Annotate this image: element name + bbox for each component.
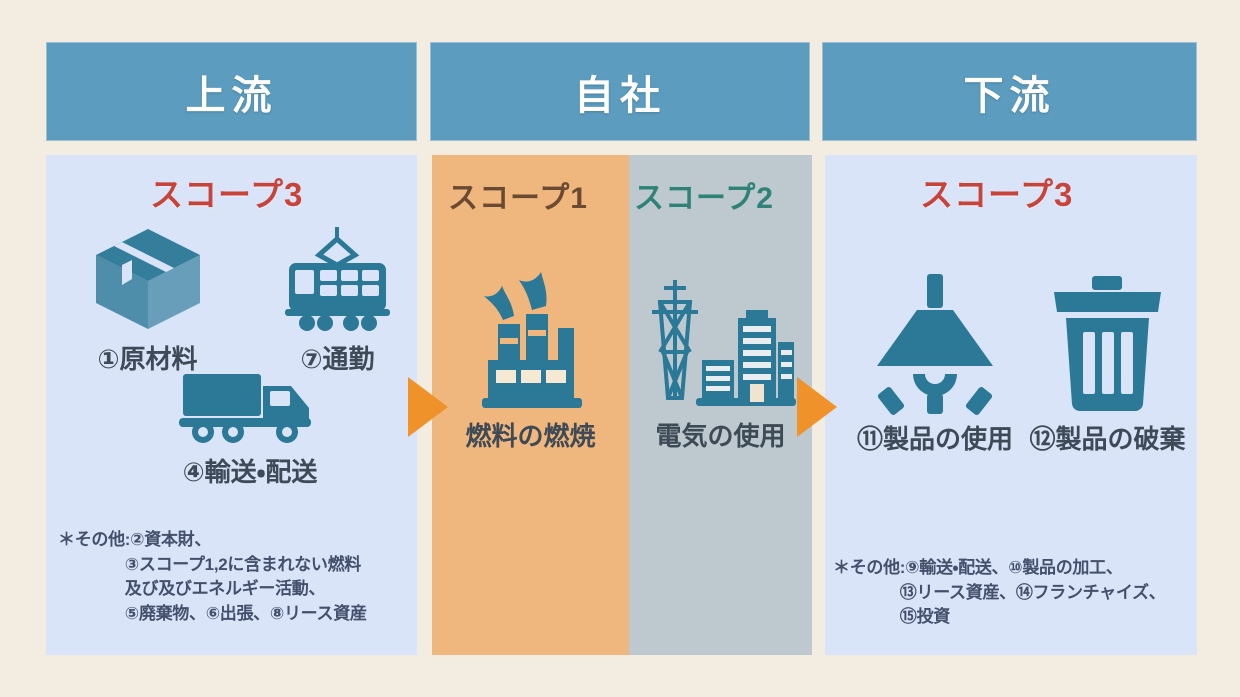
arrow-upstream-to-own [408, 377, 448, 437]
scope-label-downstream: スコープ3 [920, 168, 1073, 216]
header-own-company: 自社 [430, 42, 810, 141]
scope-label-upstream: スコープ3 [150, 168, 303, 216]
caption-transport-delivery: ④輸送・配送 [183, 452, 318, 489]
note-downstream: ＊その他:⑨輸送・配送、⑩製品の加工、 ⑬リース資産、⑭フランチャイズ、 ⑮投資 [833, 556, 1165, 630]
caption-fuel-combustion: 燃料の燃焼 [465, 416, 595, 453]
truck-icon [175, 368, 325, 448]
item-product-use: ⑪製品の使用 [850, 270, 1020, 456]
header-downstream: 下流 [822, 42, 1197, 141]
cardboard-box-icon [88, 225, 208, 335]
scope-label-scope2: スコープ2 [634, 173, 774, 217]
caption-product-use: ⑪製品の使用 [857, 419, 1013, 456]
item-raw-materials: ①原材料 [60, 225, 235, 376]
tram-icon [275, 225, 400, 335]
item-product-disposal: ⑫製品の破棄 [1025, 270, 1190, 456]
scope-label-scope1: スコープ1 [448, 173, 588, 217]
item-fuel-combustion: 燃料の燃焼 [443, 272, 618, 453]
item-transport-delivery: ④輸送・配送 [150, 368, 350, 489]
header-upstream: 上流 [46, 42, 417, 141]
item-electricity-use: 電気の使用 [633, 272, 808, 453]
scope-diagram: 上流 自社 下流 スコープ3 スコープ1 スコープ2 スコープ3 ①原材料 [0, 0, 1240, 697]
power-grid-icon [646, 272, 796, 412]
hanging-lamp-icon [865, 270, 1005, 415]
caption-product-disposal: ⑫製品の破棄 [1029, 419, 1185, 456]
arrow-own-to-downstream [797, 377, 837, 437]
caption-electricity-use: 電気の使用 [655, 416, 785, 453]
factory-icon [466, 272, 596, 412]
item-commuting: ⑦通勤 [265, 225, 410, 376]
note-upstream: ＊その他:②資本財、 ③スコープ1,2に含まれない燃料 及び及びエネルギー活動、… [58, 528, 367, 627]
trash-bin-icon [1050, 270, 1165, 415]
